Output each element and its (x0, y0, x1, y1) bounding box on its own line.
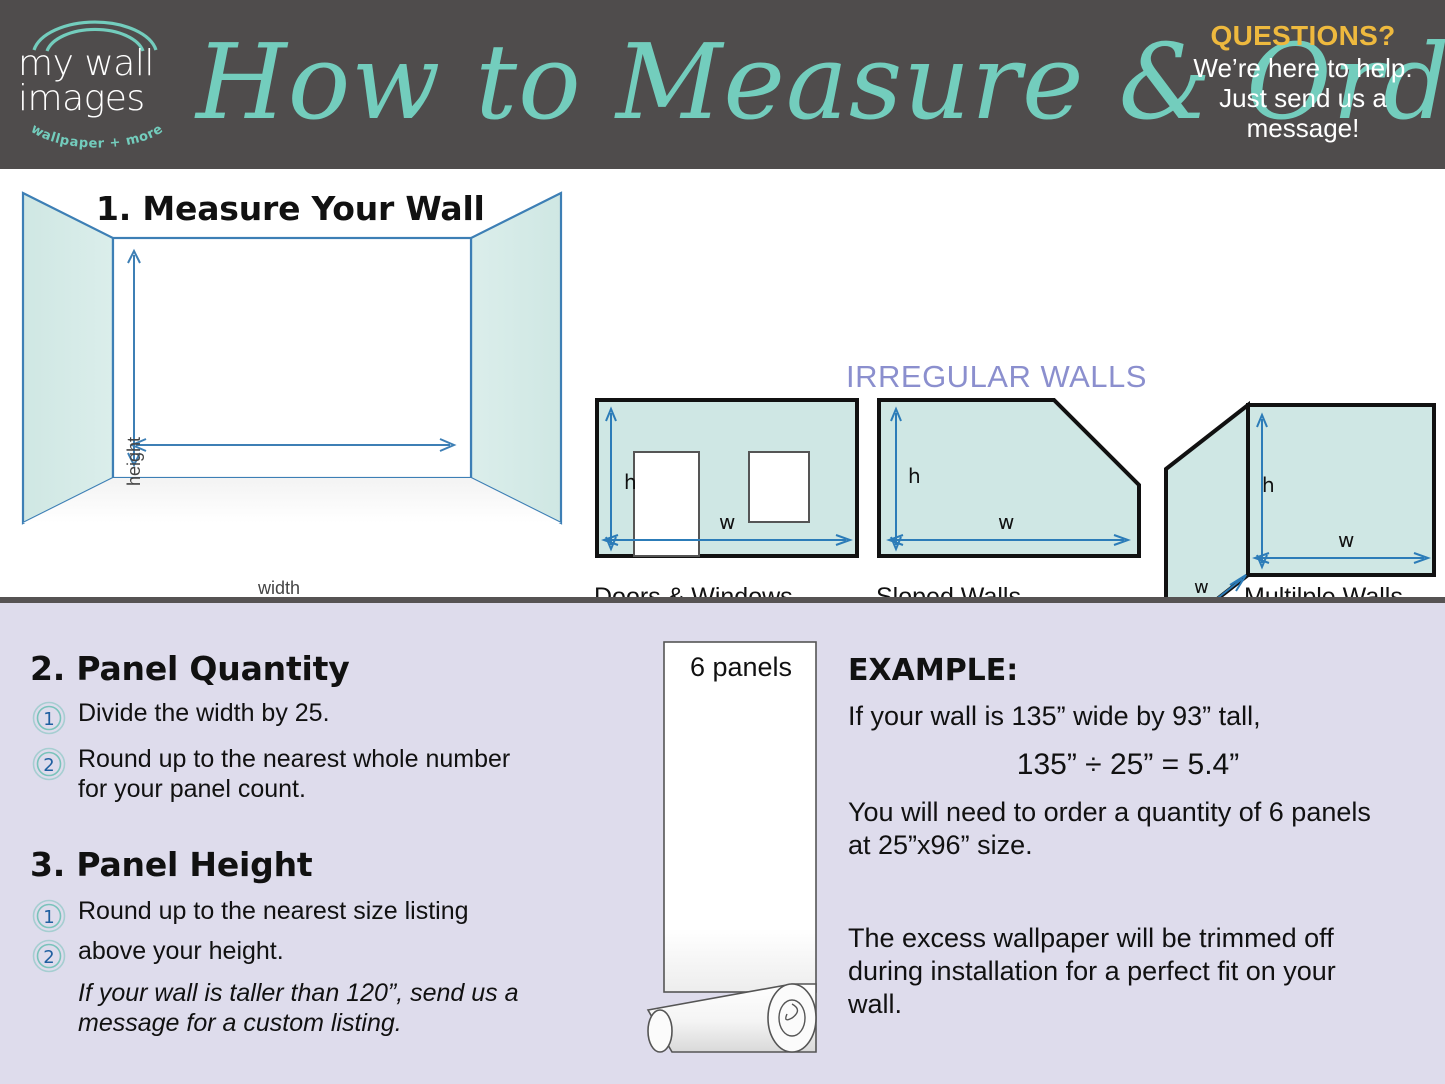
logo-tagline: wallpaper + more (22, 122, 172, 156)
section1-title: 1. Measure Your Wall (96, 189, 485, 228)
questions-block: QUESTIONS? We’re here to help. Just send… (1177, 20, 1429, 143)
doors-windows-diagram: h w (594, 397, 860, 559)
brand-logo: my wall images wallpaper + more (14, 18, 174, 150)
svg-text:h: h (908, 464, 921, 488)
svg-text:w: w (719, 510, 735, 534)
panel-quantity-step-1-text: Divide the width by 25. (78, 698, 330, 728)
panel-height-step-2-text: above your height. (78, 936, 284, 966)
svg-text:w: w (1338, 528, 1354, 552)
panel-height-note-text: If your wall is taller than 120”, send u… (78, 978, 552, 1038)
sloped-wall-diagram: h w (876, 397, 1146, 559)
step-number-ring-icon: 2 (32, 939, 66, 973)
example-line-3: The excess wallpaper will be trimmed off… (848, 922, 1388, 1021)
panel-quantity-title: 2. Panel Quantity (30, 649, 350, 688)
questions-heading: QUESTIONS? (1177, 20, 1429, 52)
svg-text:wallpaper + more: wallpaper + more (28, 122, 166, 152)
step-number-ring-icon: 2 (32, 747, 66, 781)
step-number-ring-icon: 1 (32, 701, 66, 735)
svg-text:2: 2 (43, 947, 54, 968)
panel-height-step-1-text: Round up to the nearest size listing (78, 896, 469, 926)
wallpaper-roll-illustration (640, 638, 840, 1070)
roll-panel-count-label: 6 panels (652, 652, 830, 683)
example-heading: EXAMPLE: (848, 653, 1018, 688)
svg-text:1: 1 (43, 709, 54, 730)
width-label: width (258, 578, 300, 599)
svg-text:1: 1 (43, 907, 54, 928)
height-label: height (124, 437, 145, 486)
svg-text:w: w (998, 510, 1014, 534)
example-line-2: You will need to order a quantity of 6 p… (848, 796, 1388, 862)
panel-quantity-step-2-text: Round up to the nearest whole number for… (78, 744, 532, 804)
svg-text:w: w (1194, 577, 1209, 598)
logo-line-2: images (18, 81, 174, 116)
page-title: How to Measure & Order (196, 6, 1176, 158)
questions-body: We’re here to help. Just send us a messa… (1177, 53, 1429, 143)
logo-wordmark: my wall images (14, 46, 174, 116)
irregular-walls-title: IRREGULAR WALLS (846, 359, 1147, 395)
step-number-ring-icon: 1 (32, 899, 66, 933)
page-header: my wall images wallpaper + more How to M… (0, 0, 1445, 164)
measure-wall-section: 1. Measure Your Wall height width Measur… (0, 169, 1445, 597)
logo-line-1: my wall (18, 46, 174, 81)
wall-perspective-diagram (18, 183, 566, 531)
svg-text:h: h (624, 470, 637, 494)
svg-text:2: 2 (43, 755, 54, 776)
svg-text:h: h (1262, 473, 1275, 497)
panel-height-title: 3. Panel Height (30, 845, 312, 884)
example-line-1: If your wall is 135” wide by 93” tall, (848, 700, 1428, 733)
example-equation: 135” ÷ 25” = 5.4” (848, 748, 1408, 782)
infographic-page: my wall images wallpaper + more How to M… (0, 0, 1445, 1084)
